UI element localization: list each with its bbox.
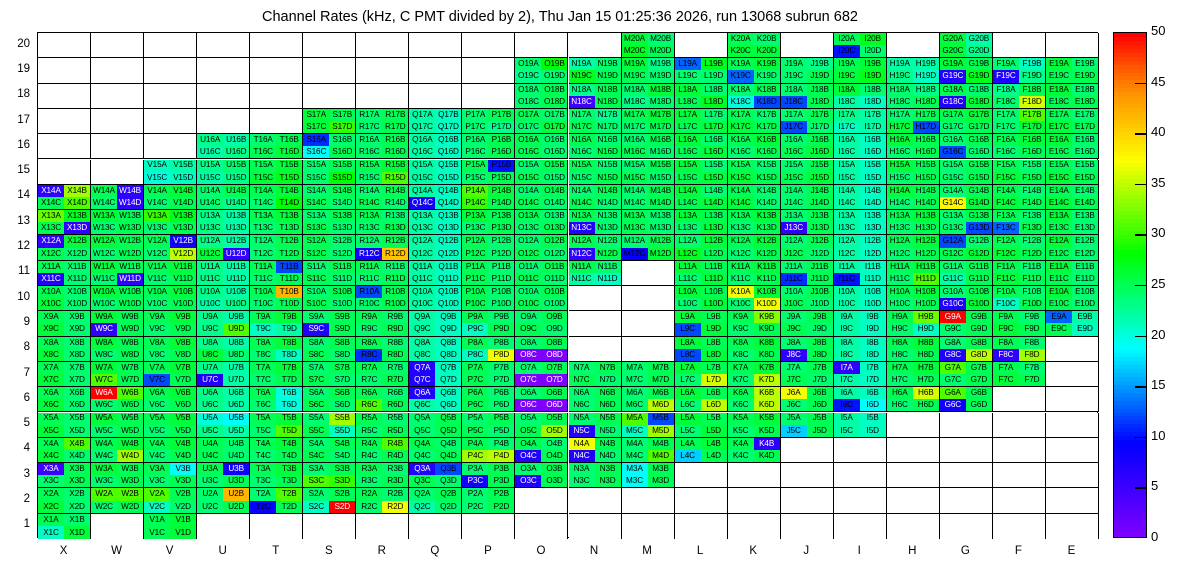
- channel-U9D[interactable]: U9D: [223, 323, 249, 335]
- channel-M7B[interactable]: M7B: [648, 362, 674, 374]
- paddle-S18[interactable]: [303, 84, 356, 109]
- channel-X7A[interactable]: X7A: [38, 362, 64, 374]
- channel-X6C[interactable]: X6C: [38, 399, 64, 411]
- channel-E10D[interactable]: E10D: [1072, 298, 1098, 310]
- channel-N18B[interactable]: N18B: [595, 84, 621, 96]
- channel-P10D[interactable]: P10D: [488, 298, 514, 310]
- channel-N16C[interactable]: N16C: [569, 146, 595, 158]
- paddle-X6[interactable]: X6AX6BX6CX6D: [38, 387, 91, 412]
- channel-V3D[interactable]: V3D: [170, 475, 196, 487]
- channel-O19D[interactable]: O19D: [541, 70, 567, 82]
- paddle-S2[interactable]: S2AS2BS2CS2D: [303, 488, 356, 513]
- channel-M6D[interactable]: M6D: [648, 399, 674, 411]
- channel-F19A[interactable]: F19A: [993, 58, 1019, 70]
- channel-H17C[interactable]: H17C: [887, 121, 913, 133]
- channel-F11B[interactable]: F11B: [1019, 261, 1045, 273]
- channel-F18C[interactable]: F18C: [993, 96, 1019, 108]
- channel-S16B[interactable]: S16B: [329, 134, 355, 146]
- channel-L19C[interactable]: L19C: [675, 70, 701, 82]
- paddle-I7[interactable]: I7AI7BI7CI7D: [834, 362, 887, 387]
- paddle-E11[interactable]: E11AE11BE11CE11D: [1046, 261, 1099, 286]
- paddle-U3[interactable]: U3AU3BU3CU3D: [197, 463, 250, 488]
- paddle-R16[interactable]: R16AR16BR16CR16D: [356, 134, 409, 159]
- channel-U6A[interactable]: U6A: [197, 387, 223, 399]
- channel-V1D[interactable]: V1D: [170, 526, 196, 539]
- channel-K13A[interactable]: K13A: [728, 210, 754, 222]
- paddle-E3[interactable]: [1046, 463, 1099, 488]
- channel-Q4A[interactable]: Q4A: [409, 438, 435, 450]
- channel-L7D[interactable]: L7D: [701, 374, 727, 386]
- channel-E9A[interactable]: E9A: [1046, 311, 1072, 323]
- channel-V6C[interactable]: V6C: [144, 399, 170, 411]
- channel-U7D[interactable]: U7D: [223, 374, 249, 386]
- channel-G14D[interactable]: G14D: [966, 197, 992, 209]
- paddle-M19[interactable]: M19AM19BM19CM19D: [622, 58, 675, 83]
- channel-F12B[interactable]: F12B: [1019, 235, 1045, 247]
- channel-W4D[interactable]: W4D: [117, 450, 143, 462]
- channel-T5D[interactable]: T5D: [276, 425, 302, 437]
- channel-I9D[interactable]: I9D: [860, 323, 886, 335]
- paddle-G12[interactable]: G12AG12BG12CG12D: [940, 235, 993, 260]
- channel-S8D[interactable]: S8D: [329, 349, 355, 361]
- paddle-J17[interactable]: J17AJ17BJ17CJ17D: [781, 109, 834, 134]
- paddle-K8[interactable]: K8AK8BK8CK8D: [728, 337, 781, 362]
- channel-F14C[interactable]: F14C: [993, 197, 1019, 209]
- channel-R16A[interactable]: R16A: [356, 134, 382, 146]
- paddle-T9[interactable]: T9AT9BT9CT9D: [250, 311, 303, 336]
- channel-R8A[interactable]: R8A: [356, 337, 382, 349]
- paddle-X9[interactable]: X9AX9BX9CX9D: [38, 311, 91, 336]
- paddle-W7[interactable]: W7AW7BW7CW7D: [91, 362, 144, 387]
- channel-N5B[interactable]: N5B: [595, 413, 621, 425]
- channel-X2A[interactable]: X2A: [38, 488, 64, 500]
- paddle-E13[interactable]: E13AE13BE13CE13D: [1046, 210, 1099, 235]
- channel-L7B[interactable]: L7B: [701, 362, 727, 374]
- channel-Q11C[interactable]: Q11C: [409, 273, 435, 285]
- channel-K14A[interactable]: K14A: [728, 185, 754, 197]
- channel-M16B[interactable]: M16B: [648, 134, 674, 146]
- channel-Q5A[interactable]: Q5A: [409, 413, 435, 425]
- channel-O3B[interactable]: O3B: [541, 463, 567, 475]
- channel-M14D[interactable]: M14D: [648, 197, 674, 209]
- channel-J8B[interactable]: J8B: [807, 337, 833, 349]
- paddle-Q15[interactable]: Q15AQ15BQ15CQ15D: [409, 160, 462, 185]
- channel-W12D[interactable]: W12D: [117, 248, 143, 260]
- channel-I7A[interactable]: I7A: [834, 362, 860, 374]
- channel-M20A[interactable]: M20A: [622, 33, 648, 45]
- paddle-U2[interactable]: U2AU2BU2CU2D: [197, 488, 250, 513]
- paddle-I20[interactable]: I20AI20BI20CI20D: [834, 33, 887, 58]
- channel-O11D[interactable]: O11D: [541, 273, 567, 285]
- channel-S3C[interactable]: S3C: [303, 475, 329, 487]
- channel-V13A[interactable]: V13A: [144, 210, 170, 222]
- channel-W7B[interactable]: W7B: [117, 362, 143, 374]
- channel-V1A[interactable]: V1A: [144, 514, 170, 527]
- channel-O9D[interactable]: O9D: [541, 323, 567, 335]
- paddle-V6[interactable]: V6AV6BV6CV6D: [144, 387, 197, 412]
- paddle-H15[interactable]: H15AH15BH15CH15D: [887, 160, 940, 185]
- channel-S14D[interactable]: S14D: [329, 197, 355, 209]
- channel-L14B[interactable]: L14B: [701, 185, 727, 197]
- paddle-H7[interactable]: H7AH7BH7CH7D: [887, 362, 940, 387]
- paddle-Q11[interactable]: Q11AQ11BQ11CQ11D: [409, 261, 462, 286]
- channel-G9C[interactable]: G9C: [940, 323, 966, 335]
- channel-J17A[interactable]: J17A: [781, 109, 807, 121]
- channel-L18D[interactable]: L18D: [701, 96, 727, 108]
- channel-S2D[interactable]: S2D: [329, 501, 355, 513]
- paddle-L14[interactable]: L14AL14BL14CL14D: [675, 185, 728, 210]
- channel-T16C[interactable]: T16C: [250, 146, 276, 158]
- channel-J15D[interactable]: J15D: [807, 172, 833, 184]
- channel-J14A[interactable]: J14A: [781, 185, 807, 197]
- paddle-J4[interactable]: [781, 438, 834, 463]
- paddle-T10[interactable]: T10AT10BT10CT10D: [250, 286, 303, 311]
- channel-G12B[interactable]: G12B: [966, 235, 992, 247]
- paddle-K7[interactable]: K7AK7BK7CK7D: [728, 362, 781, 387]
- channel-O5B[interactable]: O5B: [541, 413, 567, 425]
- channel-T15C[interactable]: T15C: [250, 172, 276, 184]
- paddle-T8[interactable]: T8AT8BT8CT8D: [250, 337, 303, 362]
- channel-U7A[interactable]: U7A: [197, 362, 223, 374]
- paddle-U8[interactable]: U8AU8BU8CU8D: [197, 337, 250, 362]
- channel-X11D[interactable]: X11D: [64, 273, 90, 285]
- channel-F16B[interactable]: F16B: [1019, 134, 1045, 146]
- channel-K17B[interactable]: K17B: [754, 109, 780, 121]
- channel-U5A[interactable]: U5A: [197, 413, 223, 425]
- channel-J8D[interactable]: J8D: [807, 349, 833, 361]
- paddle-N9[interactable]: [569, 311, 622, 336]
- paddle-G7[interactable]: G7AG7BG7CG7D: [940, 362, 993, 387]
- channel-P16B[interactable]: P16B: [488, 134, 514, 146]
- channel-S14A[interactable]: S14A: [303, 185, 329, 197]
- paddle-N16[interactable]: N16AN16BN16CN16D: [569, 134, 622, 159]
- paddle-T11[interactable]: T11AT11BT11CT11D: [250, 261, 303, 286]
- channel-R9B[interactable]: R9B: [382, 311, 408, 323]
- channel-O7C[interactable]: O7C: [515, 374, 541, 386]
- channel-X10C[interactable]: X10C: [38, 298, 64, 310]
- channel-U3D[interactable]: U3D: [223, 475, 249, 487]
- channel-R13A[interactable]: R13A: [356, 210, 382, 222]
- channel-G12C[interactable]: G12C: [940, 248, 966, 260]
- paddle-U9[interactable]: U9AU9BU9CU9D: [197, 311, 250, 336]
- channel-T13D[interactable]: T13D: [276, 222, 302, 234]
- channel-L11B[interactable]: L11B: [701, 261, 727, 273]
- paddle-N18[interactable]: N18AN18BN18CN18D: [569, 84, 622, 109]
- paddle-T18[interactable]: [250, 84, 303, 109]
- paddle-S12[interactable]: S12AS12BS12CS12D: [303, 235, 356, 260]
- channel-K14B[interactable]: K14B: [754, 185, 780, 197]
- paddle-H8[interactable]: H8AH8BH8CH8D: [887, 337, 940, 362]
- paddle-O16[interactable]: O16AO16BO16CO16D: [515, 134, 568, 159]
- channel-V10D[interactable]: V10D: [170, 298, 196, 310]
- channel-J15B[interactable]: J15B: [807, 160, 833, 172]
- channel-L14A[interactable]: L14A: [675, 185, 701, 197]
- channel-W6C[interactable]: W6C: [91, 399, 117, 411]
- paddle-F16[interactable]: F16AF16BF16CF16D: [993, 134, 1046, 159]
- paddle-M13[interactable]: M13AM13BM13CM13D: [622, 210, 675, 235]
- channel-M4A[interactable]: M4A: [622, 438, 648, 450]
- channel-I19B[interactable]: I19B: [860, 58, 886, 70]
- channel-J12D[interactable]: J12D: [807, 248, 833, 260]
- channel-N13C[interactable]: N13C: [569, 222, 595, 234]
- paddle-U19[interactable]: [197, 58, 250, 83]
- channel-P14D[interactable]: P14D: [488, 197, 514, 209]
- paddle-L8[interactable]: L8AL8BL8CL8D: [675, 337, 728, 362]
- channel-V12D[interactable]: V12D: [170, 248, 196, 260]
- channel-S8C[interactable]: S8C: [303, 349, 329, 361]
- paddle-T3[interactable]: T3AT3BT3CT3D: [250, 463, 303, 488]
- channel-I8D[interactable]: I8D: [860, 349, 886, 361]
- channel-P8C[interactable]: P8C: [462, 349, 488, 361]
- channel-E17B[interactable]: E17B: [1072, 109, 1098, 121]
- channel-P4C[interactable]: P4C: [462, 450, 488, 462]
- channel-P15C[interactable]: P15C: [462, 172, 488, 184]
- channel-S7D[interactable]: S7D: [329, 374, 355, 386]
- channel-W14C[interactable]: W14C: [91, 197, 117, 209]
- channel-E19C[interactable]: E19C: [1046, 70, 1072, 82]
- paddle-H18[interactable]: H18AH18BH18CH18D: [887, 84, 940, 109]
- channel-N18D[interactable]: N18D: [595, 96, 621, 108]
- channel-O9B[interactable]: O9B: [541, 311, 567, 323]
- paddle-U4[interactable]: U4AU4BU4CU4D: [197, 438, 250, 463]
- channel-W13D[interactable]: W13D: [117, 222, 143, 234]
- paddle-T4[interactable]: T4AT4BT4CT4D: [250, 438, 303, 463]
- channel-F14B[interactable]: F14B: [1019, 185, 1045, 197]
- channel-O12A[interactable]: O12A: [515, 235, 541, 247]
- channel-O12C[interactable]: O12C: [515, 248, 541, 260]
- channel-K19D[interactable]: K19D: [754, 70, 780, 82]
- paddle-O13[interactable]: O13AO13BO13CO13D: [515, 210, 568, 235]
- channel-R13D[interactable]: R13D: [382, 222, 408, 234]
- channel-O14C[interactable]: O14C: [515, 197, 541, 209]
- paddle-P10[interactable]: P10AP10BP10CP10D: [462, 286, 515, 311]
- channel-X12C[interactable]: X12C: [38, 248, 64, 260]
- channel-K6D[interactable]: K6D: [754, 399, 780, 411]
- channel-I16D[interactable]: I16D: [860, 146, 886, 158]
- channel-Q15A[interactable]: Q15A: [409, 160, 435, 172]
- paddle-W13[interactable]: W13AW13BW13CW13D: [91, 210, 144, 235]
- channel-K18C[interactable]: K18C: [728, 96, 754, 108]
- channel-M3C[interactable]: M3C: [622, 475, 648, 487]
- channel-O14D[interactable]: O14D: [541, 197, 567, 209]
- channel-F12C[interactable]: F12C: [993, 248, 1019, 260]
- channel-O7B[interactable]: O7B: [541, 362, 567, 374]
- channel-R17C[interactable]: R17C: [356, 121, 382, 133]
- channel-R2A[interactable]: R2A: [356, 488, 382, 500]
- channel-G10C[interactable]: G10C: [940, 298, 966, 310]
- channel-I6C[interactable]: I6C: [834, 399, 860, 411]
- channel-N17C[interactable]: N17C: [569, 121, 595, 133]
- channel-E11D[interactable]: E11D: [1072, 273, 1098, 285]
- paddle-J3[interactable]: [781, 463, 834, 488]
- channel-K10B[interactable]: K10B: [754, 286, 780, 298]
- channel-V12B[interactable]: V12B: [170, 235, 196, 247]
- channel-T12C[interactable]: T12C: [250, 248, 276, 260]
- paddle-K2[interactable]: [728, 488, 781, 513]
- channel-K4C[interactable]: K4C: [728, 450, 754, 462]
- channel-R11B[interactable]: R11B: [382, 261, 408, 273]
- channel-I5B[interactable]: I5B: [860, 413, 886, 425]
- channel-Q9B[interactable]: Q9B: [435, 311, 461, 323]
- channel-K19A[interactable]: K19A: [728, 58, 754, 70]
- channel-J11B[interactable]: J11B: [807, 261, 833, 273]
- channel-K17C[interactable]: K17C: [728, 121, 754, 133]
- channel-R12A[interactable]: R12A: [356, 235, 382, 247]
- channel-N12C[interactable]: N12C: [569, 248, 595, 260]
- channel-S4D[interactable]: S4D: [329, 450, 355, 462]
- channel-O18B[interactable]: O18B: [541, 84, 567, 96]
- channel-S5C[interactable]: S5C: [303, 425, 329, 437]
- channel-H8A[interactable]: H8A: [887, 337, 913, 349]
- channel-P3B[interactable]: P3B: [488, 463, 514, 475]
- channel-U7B[interactable]: U7B: [223, 362, 249, 374]
- paddle-E6[interactable]: [1046, 387, 1099, 412]
- channel-L9D[interactable]: L9D: [701, 323, 727, 335]
- channel-W8A[interactable]: W8A: [91, 337, 117, 349]
- channel-S2C[interactable]: S2C: [303, 501, 329, 513]
- channel-E16A[interactable]: E16A: [1046, 134, 1072, 146]
- channel-I9A[interactable]: I9A: [834, 311, 860, 323]
- channel-N11D[interactable]: N11D: [595, 273, 621, 285]
- channel-K11C[interactable]: K11C: [728, 273, 754, 285]
- channel-P12A[interactable]: P12A: [462, 235, 488, 247]
- channel-S6A[interactable]: S6A: [303, 387, 329, 399]
- channel-I17B[interactable]: I17B: [860, 109, 886, 121]
- channel-G11C[interactable]: G11C: [940, 273, 966, 285]
- channel-I10D[interactable]: I10D: [860, 298, 886, 310]
- channel-R13C[interactable]: R13C: [356, 222, 382, 234]
- channel-G19A[interactable]: G19A: [940, 58, 966, 70]
- channel-V14D[interactable]: V14D: [170, 197, 196, 209]
- channel-P6C[interactable]: P6C: [462, 399, 488, 411]
- channel-T14A[interactable]: T14A: [250, 185, 276, 197]
- paddle-P3[interactable]: P3AP3BP3CP3D: [462, 463, 515, 488]
- channel-H18D[interactable]: H18D: [913, 96, 939, 108]
- channel-J10B[interactable]: J10B: [807, 286, 833, 298]
- channel-U2A[interactable]: U2A: [197, 488, 223, 500]
- channel-H17B[interactable]: H17B: [913, 109, 939, 121]
- paddle-L15[interactable]: L15AL15BL15CL15D: [675, 160, 728, 185]
- channel-P13B[interactable]: P13B: [488, 210, 514, 222]
- channel-S13C[interactable]: S13C: [303, 222, 329, 234]
- paddle-V18[interactable]: [144, 84, 197, 109]
- channel-O8B[interactable]: O8B: [541, 337, 567, 349]
- paddle-X17[interactable]: [38, 109, 91, 134]
- paddle-K6[interactable]: K6AK6BK6CK6D: [728, 387, 781, 412]
- channel-F8C[interactable]: F8C: [993, 349, 1019, 361]
- channel-R14B[interactable]: R14B: [382, 185, 408, 197]
- channel-E14B[interactable]: E14B: [1072, 185, 1098, 197]
- channel-P9C[interactable]: P9C: [462, 323, 488, 335]
- channel-W2B[interactable]: W2B: [117, 488, 143, 500]
- channel-V4B[interactable]: V4B: [170, 438, 196, 450]
- channel-T9C[interactable]: T9C: [250, 323, 276, 335]
- channel-R8C[interactable]: R8C: [356, 349, 382, 361]
- channel-R5D[interactable]: R5D: [382, 425, 408, 437]
- channel-H10B[interactable]: H10B: [913, 286, 939, 298]
- paddle-W8[interactable]: W8AW8BW8CW8D: [91, 337, 144, 362]
- channel-W9C[interactable]: W9C: [91, 323, 117, 335]
- channel-I6A[interactable]: I6A: [834, 387, 860, 399]
- channel-U15B[interactable]: U15B: [223, 160, 249, 172]
- channel-S4B[interactable]: S4B: [329, 438, 355, 450]
- paddle-R14[interactable]: R14AR14BR14CR14D: [356, 185, 409, 210]
- paddle-X1[interactable]: X1AX1BX1CX1D: [38, 514, 91, 539]
- channel-M17C[interactable]: M17C: [622, 121, 648, 133]
- channel-L4B[interactable]: L4B: [701, 438, 727, 450]
- channel-W11A[interactable]: W11A: [91, 261, 117, 273]
- channel-U9A[interactable]: U9A: [197, 311, 223, 323]
- channel-T8A[interactable]: T8A: [250, 337, 276, 349]
- paddle-P17[interactable]: P17AP17BP17CP17D: [462, 109, 515, 134]
- paddle-R7[interactable]: R7AR7BR7CR7D: [356, 362, 409, 387]
- channel-E14D[interactable]: E14D: [1072, 197, 1098, 209]
- channel-L13D[interactable]: L13D: [701, 222, 727, 234]
- channel-H14A[interactable]: H14A: [887, 185, 913, 197]
- channel-O19A[interactable]: O19A: [515, 58, 541, 70]
- channel-S16C[interactable]: S16C: [303, 146, 329, 158]
- channel-O3C[interactable]: O3C: [515, 475, 541, 487]
- paddle-M3[interactable]: M3AM3BM3CM3D: [622, 463, 675, 488]
- channel-N6B[interactable]: N6B: [595, 387, 621, 399]
- channel-H17A[interactable]: H17A: [887, 109, 913, 121]
- channel-T6B[interactable]: T6B: [276, 387, 302, 399]
- channel-X2D[interactable]: X2D: [64, 501, 90, 513]
- channel-S6C[interactable]: S6C: [303, 399, 329, 411]
- paddle-N4[interactable]: N4AN4BN4CN4D: [569, 438, 622, 463]
- channel-M3D[interactable]: M3D: [648, 475, 674, 487]
- channel-K10D[interactable]: K10D: [754, 298, 780, 310]
- channel-M19A[interactable]: M19A: [622, 58, 648, 70]
- channel-R6D[interactable]: R6D: [382, 399, 408, 411]
- paddle-F6[interactable]: [993, 387, 1046, 412]
- channel-F10A[interactable]: F10A: [993, 286, 1019, 298]
- channel-W7D[interactable]: W7D: [117, 374, 143, 386]
- channel-G17D[interactable]: G17D: [966, 121, 992, 133]
- channel-J12B[interactable]: J12B: [807, 235, 833, 247]
- channel-O15C[interactable]: O15C: [515, 172, 541, 184]
- channel-K4B[interactable]: K4B: [754, 438, 780, 450]
- channel-R8B[interactable]: R8B: [382, 337, 408, 349]
- channel-W14D[interactable]: W14D: [117, 197, 143, 209]
- channel-Q15D[interactable]: Q15D: [435, 172, 461, 184]
- channel-N13A[interactable]: N13A: [569, 210, 595, 222]
- channel-U11A[interactable]: U11A: [197, 261, 223, 273]
- paddle-S7[interactable]: S7AS7BS7CS7D: [303, 362, 356, 387]
- paddle-I17[interactable]: I17AI17BI17CI17D: [834, 109, 887, 134]
- channel-Q9A[interactable]: Q9A: [409, 311, 435, 323]
- channel-E19B[interactable]: E19B: [1072, 58, 1098, 70]
- channel-J13D[interactable]: J13D: [807, 222, 833, 234]
- channel-M20C[interactable]: M20C: [622, 45, 648, 57]
- paddle-O3[interactable]: O3AO3BO3CO3D: [515, 463, 568, 488]
- channel-R6B[interactable]: R6B: [382, 387, 408, 399]
- channel-P7A[interactable]: P7A: [462, 362, 488, 374]
- channel-L5C[interactable]: L5C: [675, 425, 701, 437]
- channel-J18C[interactable]: J18C: [781, 96, 807, 108]
- channel-P10B[interactable]: P10B: [488, 286, 514, 298]
- channel-T13A[interactable]: T13A: [250, 210, 276, 222]
- paddle-V1[interactable]: V1AV1BV1CV1D: [144, 514, 197, 539]
- channel-F8A[interactable]: F8A: [993, 337, 1019, 349]
- channel-S15B[interactable]: S15B: [329, 160, 355, 172]
- paddle-J7[interactable]: J7AJ7BJ7CJ7D: [781, 362, 834, 387]
- channel-R11D[interactable]: R11D: [382, 273, 408, 285]
- channel-M18D[interactable]: M18D: [648, 96, 674, 108]
- channel-J6C[interactable]: J6C: [781, 399, 807, 411]
- paddle-R1[interactable]: [356, 514, 409, 539]
- channel-V13D[interactable]: V13D: [170, 222, 196, 234]
